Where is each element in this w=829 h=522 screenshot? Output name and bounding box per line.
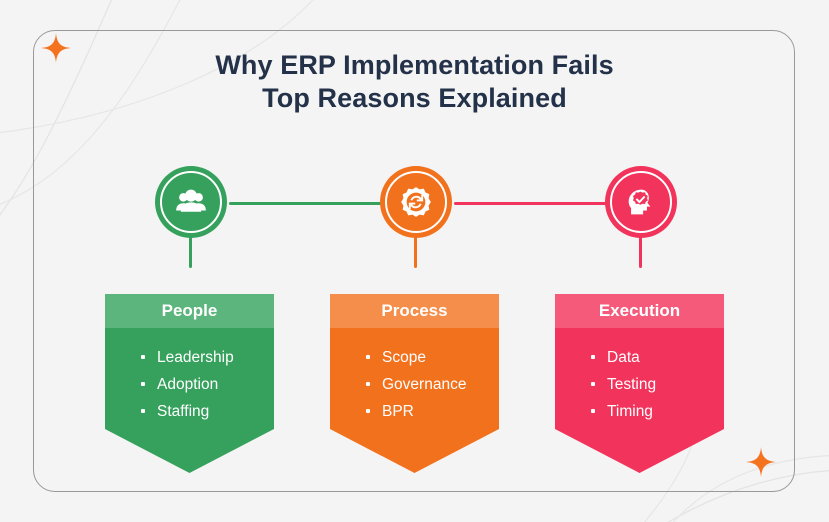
banner-heading-execution: Execution — [555, 294, 724, 328]
stem-people — [189, 237, 192, 268]
icon-circle-process[interactable] — [380, 166, 452, 238]
list-item: Timing — [591, 398, 724, 425]
list-item: Scope — [366, 344, 499, 371]
banner-list-people: Leadership Adoption Staffing — [105, 328, 274, 429]
title-line-1: Why ERP Implementation Fails — [0, 49, 829, 82]
page-title: Why ERP Implementation Fails Top Reasons… — [0, 49, 829, 115]
banner-heading-process: Process — [330, 294, 499, 328]
list-item: Adoption — [141, 371, 274, 398]
infographic-canvas: Why ERP Implementation Fails Top Reasons… — [0, 0, 829, 522]
pillar-banner-process[interactable]: Process Scope Governance BPR — [330, 268, 499, 473]
icon-circle-execution[interactable] — [605, 166, 677, 238]
stem-process — [414, 237, 417, 268]
stem-execution — [639, 237, 642, 268]
list-item: Leadership — [141, 344, 274, 371]
list-item: Testing — [591, 371, 724, 398]
title-line-2: Top Reasons Explained — [0, 82, 829, 115]
head-check-badge-icon — [624, 185, 658, 219]
banner-list-process: Scope Governance BPR — [330, 328, 499, 429]
list-item: Staffing — [141, 398, 274, 425]
gear-refresh-icon — [399, 185, 433, 219]
icon-circle-people[interactable] — [155, 166, 227, 238]
pillar-banner-people[interactable]: People Leadership Adoption Staffing — [105, 268, 274, 473]
pillar-banner-execution[interactable]: Execution Data Testing Timing — [555, 268, 724, 473]
banner-list-execution: Data Testing Timing — [555, 328, 724, 429]
banner-body: Execution Data Testing Timing — [555, 294, 724, 473]
banner-heading-people: People — [105, 294, 274, 328]
list-item: Data — [591, 344, 724, 371]
banner-body: Process Scope Governance BPR — [330, 294, 499, 473]
connector-process-to-execution — [454, 202, 612, 205]
connector-people-to-process — [229, 202, 389, 205]
people-group-icon — [174, 185, 208, 219]
list-item: BPR — [366, 398, 499, 425]
banner-body: People Leadership Adoption Staffing — [105, 294, 274, 473]
list-item: Governance — [366, 371, 499, 398]
